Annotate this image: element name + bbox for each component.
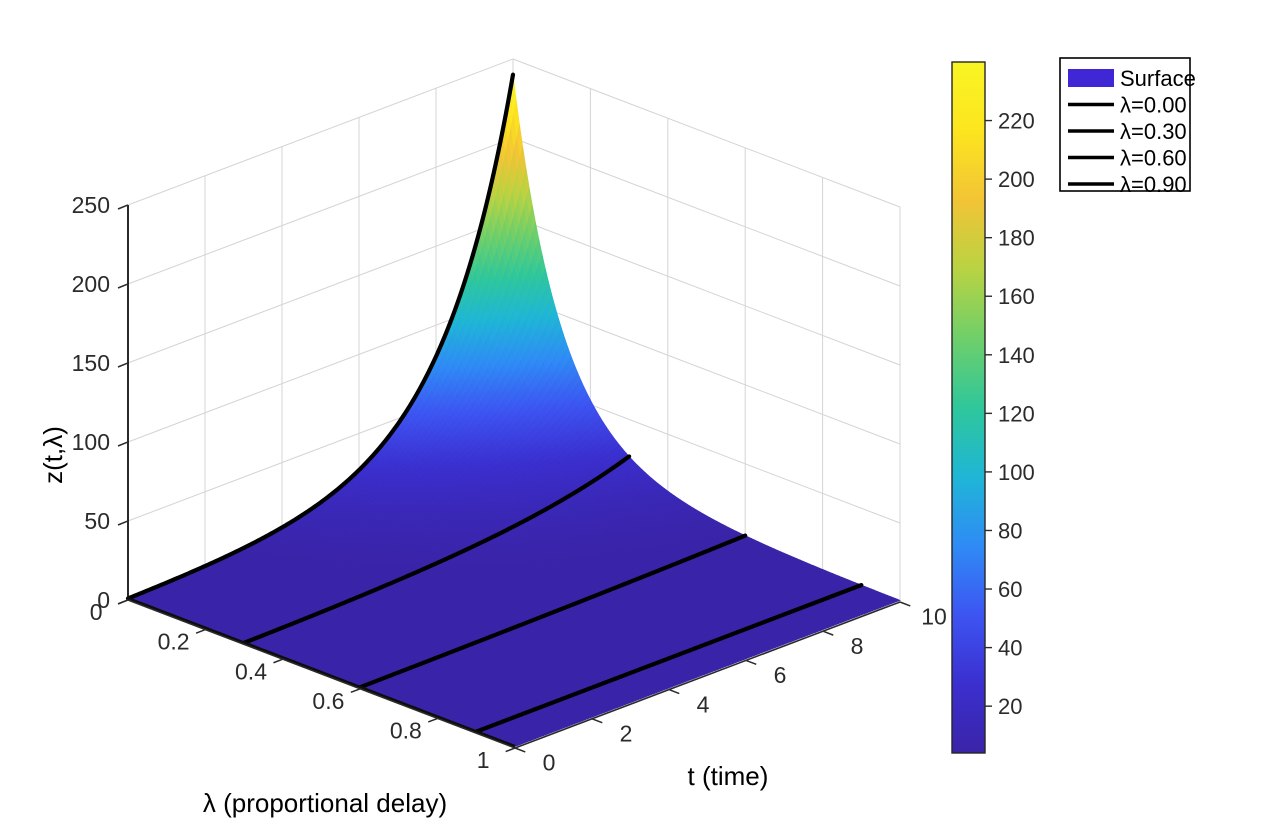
surface-plot-svg	[0, 0, 1275, 840]
figure-canvas: 00.20.40.60.810246810050100150200250λ (p…	[0, 0, 1275, 840]
